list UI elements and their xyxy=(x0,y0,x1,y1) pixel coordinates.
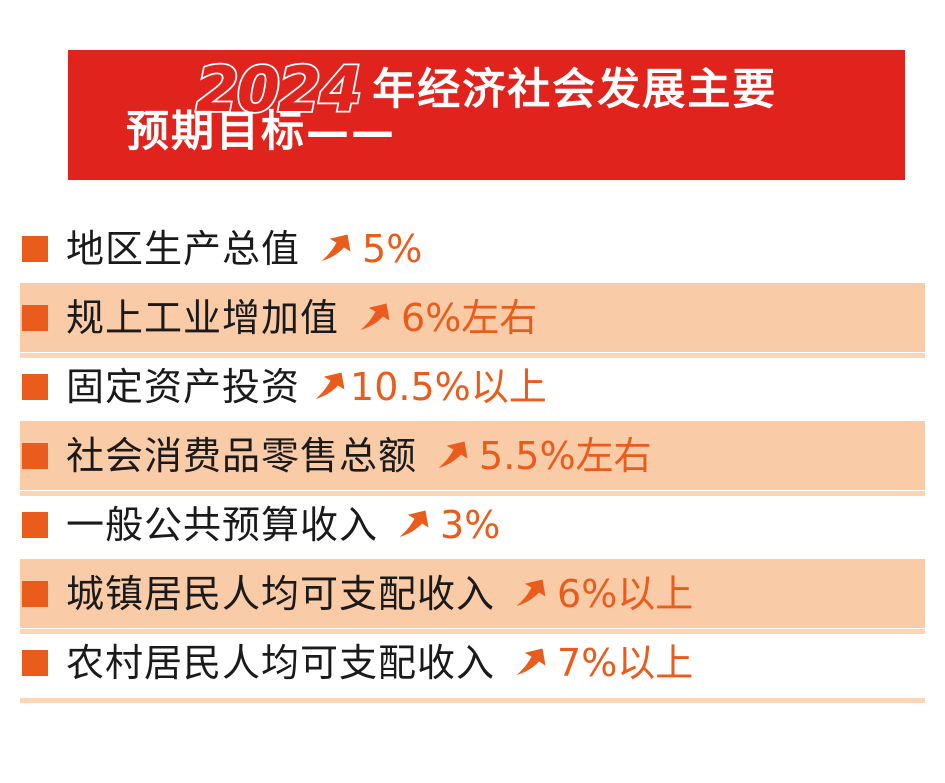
goal-value: 5% xyxy=(362,230,422,268)
goal-value: 10.5%以上 xyxy=(350,368,547,406)
row-content: 农村居民人均可支配收入 7%以上 xyxy=(22,628,693,697)
row-content: 固定资产投资 10.5%以上 xyxy=(22,352,547,421)
row-content: 城镇居民人均可支配收入 6%以上 xyxy=(22,559,693,628)
goal-label: 社会消费品零售总额 xyxy=(66,437,417,475)
square-bullet-icon xyxy=(22,305,48,331)
up-arrow-icon xyxy=(431,435,473,477)
up-arrow-icon xyxy=(509,573,551,615)
header-banner xyxy=(68,50,905,180)
goal-label: 农村居民人均可支配收入 xyxy=(66,644,495,682)
goal-value: 7%以上 xyxy=(557,644,693,682)
up-arrow-icon xyxy=(353,297,395,339)
goal-row: 固定资产投资 10.5%以上 xyxy=(0,352,945,421)
goal-value: 3% xyxy=(440,506,500,544)
square-bullet-icon xyxy=(22,443,48,469)
goals-list: 地区生产总值 5% 规上工业增加值 xyxy=(0,214,945,697)
goal-label: 一般公共预算收入 xyxy=(66,506,378,544)
up-arrow-icon xyxy=(308,366,350,408)
goal-label: 地区生产总值 xyxy=(66,230,300,268)
goal-row: 规上工业增加值 6%左右 xyxy=(0,283,945,352)
goal-value: 5.5%左右 xyxy=(479,437,652,475)
square-bullet-icon xyxy=(22,581,48,607)
goal-value: 6%左右 xyxy=(401,299,537,337)
square-bullet-icon xyxy=(22,650,48,676)
row-content: 一般公共预算收入 3% xyxy=(22,490,500,559)
row-divider xyxy=(20,698,925,703)
up-arrow-icon xyxy=(392,504,434,546)
goal-row: 一般公共预算收入 3% xyxy=(0,490,945,559)
infographic-poster: 2024年经济社会发展主要 预期目标—— 地区生产总值 5% xyxy=(0,0,945,783)
up-arrow-icon xyxy=(314,228,356,270)
goal-row: 农村居民人均可支配收入 7%以上 xyxy=(0,628,945,697)
goal-row: 城镇居民人均可支配收入 6%以上 xyxy=(0,559,945,628)
goal-label: 规上工业增加值 xyxy=(66,299,339,337)
square-bullet-icon xyxy=(22,236,48,262)
goal-label: 固定资产投资 xyxy=(66,368,300,406)
row-content: 地区生产总值 5% xyxy=(22,214,422,283)
goal-label: 城镇居民人均可支配收入 xyxy=(66,575,495,613)
square-bullet-icon xyxy=(22,512,48,538)
up-arrow-icon xyxy=(509,642,551,684)
row-content: 社会消费品零售总额 5.5%左右 xyxy=(22,421,652,490)
row-content: 规上工业增加值 6%左右 xyxy=(22,283,537,352)
goal-row: 社会消费品零售总额 5.5%左右 xyxy=(0,421,945,490)
goal-value: 6%以上 xyxy=(557,575,693,613)
goal-row: 地区生产总值 5% xyxy=(0,214,945,283)
square-bullet-icon xyxy=(22,374,48,400)
